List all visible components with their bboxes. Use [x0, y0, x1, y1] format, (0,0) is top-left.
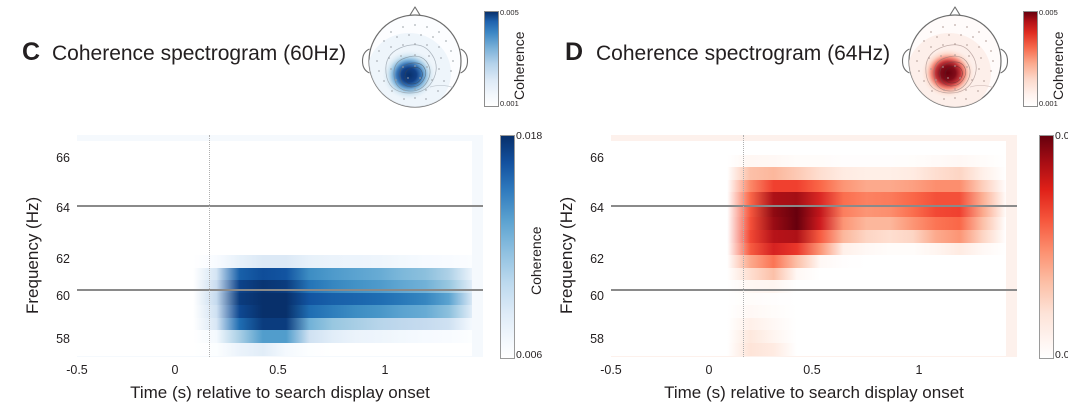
reference-line-64hz: [611, 205, 1017, 207]
heatmap-row: [77, 329, 472, 343]
heatmap-row: [611, 342, 1006, 356]
xtick-d-0: 0: [694, 364, 724, 377]
spectrogram-d: [611, 135, 1017, 357]
heatmap-row: [77, 153, 472, 167]
heatmap-row: [77, 191, 472, 205]
topo-colorbar-d-max: 0.005: [1039, 9, 1058, 17]
reference-line-64hz: [77, 205, 483, 207]
ytick-d-66: 66: [570, 152, 604, 165]
heatmap-row: [77, 229, 472, 243]
ytick-c-58: 58: [36, 333, 70, 346]
panel-letter-c: C: [22, 40, 40, 65]
topo-colorbar-c-label: Coherence: [512, 32, 526, 101]
heatmap-row: [611, 292, 1006, 306]
xtick-c--0.5: -0.5: [48, 364, 106, 377]
ytick-c-66: 66: [36, 152, 70, 165]
heatmap-row: [77, 342, 472, 356]
spectrogram-colorbar-d: [1039, 135, 1054, 359]
heatmap-row: [611, 229, 1006, 243]
xlabel-d: Time (s) relative to search display onse…: [611, 384, 1017, 401]
heatmap-row: [611, 141, 1006, 155]
heatmap-row: [611, 216, 1006, 230]
topo-colorbar-d-label: Coherence: [1051, 32, 1065, 101]
spectrogram-colorbar-d-min: 0.007: [1055, 350, 1068, 361]
heatmap-row: [611, 317, 1006, 331]
heatmap-row: [77, 266, 472, 280]
reference-line-60hz: [611, 289, 1017, 291]
heatmap-row: [611, 191, 1006, 205]
topo-colorbar-c-max: 0.005: [500, 9, 519, 17]
heatmap-row: [77, 254, 472, 268]
onset-marker: [743, 135, 744, 357]
heatmap-row: [77, 241, 472, 255]
heatmap-row: [77, 292, 472, 306]
topoplot-60hz: [356, 3, 474, 115]
topoplot-60hz-svg: [356, 3, 474, 115]
spectrogram-colorbar-d-max: 0.018: [1055, 131, 1068, 142]
xtick-c-1: 1: [370, 364, 400, 377]
panel-title-d: Coherence spectrogram (64Hz): [596, 43, 890, 64]
panel-title-c: Coherence spectrogram (60Hz): [52, 43, 346, 64]
ylabel-c: Frequency (Hz): [24, 197, 41, 314]
heatmap-row: [77, 178, 472, 192]
heatmap-row: [77, 216, 472, 230]
panel-c: C Coherence spectrogram (60Hz): [0, 0, 534, 420]
heatmap-row: [77, 141, 472, 155]
heatmap-row: [611, 241, 1006, 255]
reference-line-60hz: [77, 289, 483, 291]
ytick-d-58: 58: [570, 333, 604, 346]
panel-letter-d: D: [565, 40, 583, 65]
spectrogram-c: [77, 135, 483, 357]
heatmap-row: [77, 166, 472, 180]
heatmap-row: [611, 254, 1006, 268]
topo-colorbar-d-min: 0.001: [1039, 100, 1058, 108]
ylabel-d: Frequency (Hz): [558, 197, 575, 314]
heatmap-row: [611, 304, 1006, 318]
xtick-d-0.5: 0.5: [792, 364, 832, 377]
topo-colorbar-c: [484, 11, 499, 107]
spectrogram-colorbar-c: [500, 135, 515, 359]
topoplot-64hz-svg: [896, 3, 1014, 115]
heatmap-row: [611, 153, 1006, 167]
heatmap-row: [77, 304, 472, 318]
panel-d: D Coherence spectrogram (64Hz): [534, 0, 1068, 420]
xtick-d-1: 1: [904, 364, 934, 377]
xtick-d--0.5: -0.5: [582, 364, 640, 377]
xtick-c-0: 0: [160, 364, 190, 377]
topo-colorbar-d: [1023, 11, 1038, 107]
heatmap-row: [611, 178, 1006, 192]
xtick-c-0.5: 0.5: [258, 364, 298, 377]
heatmap-row: [611, 266, 1006, 280]
heatmap-row: [611, 166, 1006, 180]
heatmap-row: [611, 329, 1006, 343]
xlabel-c: Time (s) relative to search display onse…: [77, 384, 483, 401]
heatmap-row: [77, 317, 472, 331]
topo-colorbar-c-min: 0.001: [500, 100, 519, 108]
topoplot-64hz: [896, 3, 1014, 115]
onset-marker: [209, 135, 210, 357]
